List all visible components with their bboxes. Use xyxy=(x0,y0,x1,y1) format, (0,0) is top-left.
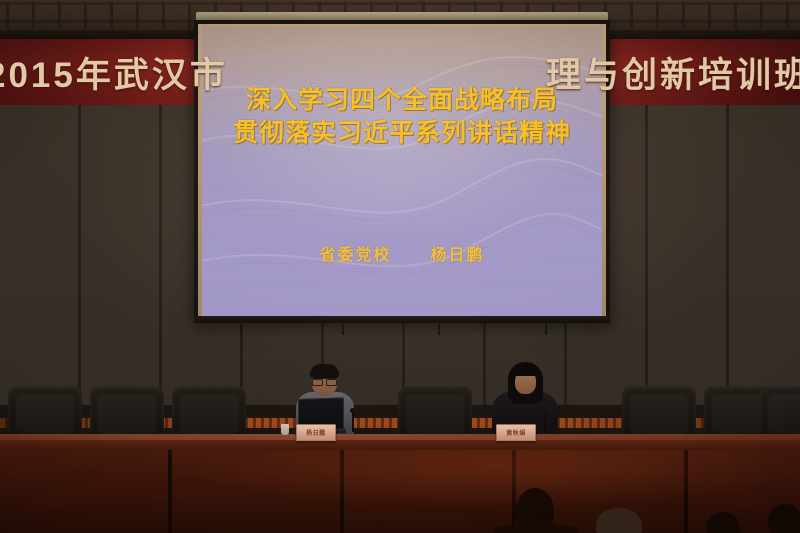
conference-chair xyxy=(760,386,800,438)
microphone-head xyxy=(542,410,547,415)
conference-chair xyxy=(8,386,82,438)
slide-presenter-line: 省委党校 杨日鹏 xyxy=(202,241,602,265)
nameplate-left: 杨日鹏 xyxy=(296,424,336,441)
nameplate-right: 黄秋娟 xyxy=(496,424,536,441)
microphone-head xyxy=(350,408,355,413)
screen-hook xyxy=(240,322,242,335)
conference-chair xyxy=(90,386,164,438)
microphone-icon xyxy=(544,414,546,432)
slide-title-line-2: 贯彻落实习近平系列讲话精神 xyxy=(202,117,602,150)
screen-hook xyxy=(545,322,547,335)
microphone-icon xyxy=(352,412,354,432)
banner-text-left: 2015年武汉市 xyxy=(0,47,228,98)
audience-shoulders xyxy=(494,524,578,533)
eyeglasses-icon xyxy=(312,378,337,384)
audience-head xyxy=(768,504,800,533)
paper-cup-icon xyxy=(281,424,289,435)
woman-bangs xyxy=(512,364,539,376)
lecture-hall-photo: 2015年武汉市 理与创新培训班 深入学习四 xyxy=(0,0,800,533)
slide-presenter-name: 杨日鹏 xyxy=(430,247,484,264)
conference-chair xyxy=(172,386,246,438)
screen-bottom-bar xyxy=(194,316,610,323)
slide-presenter-org: 省委党校 xyxy=(320,247,392,264)
table-top-highlight xyxy=(0,434,800,440)
man-hair xyxy=(310,364,339,378)
table-front-light xyxy=(0,450,800,533)
conference-chair xyxy=(622,386,696,438)
screen-hook xyxy=(438,322,440,335)
conference-chair xyxy=(398,386,472,438)
slide-title-line-1: 深入学习四个全面战略布局 xyxy=(202,84,602,117)
screen-hook xyxy=(342,322,344,335)
slide-title: 深入学习四个全面战略布局 贯彻落实习近平系列讲话精神 xyxy=(202,84,602,149)
